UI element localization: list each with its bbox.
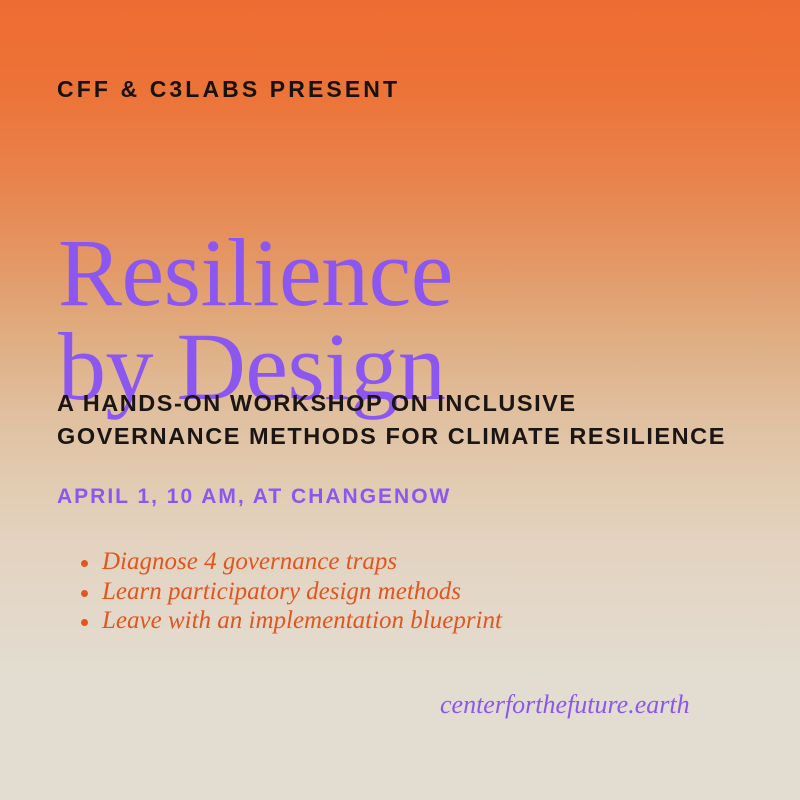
takeaways-list: Diagnose 4 governance traps Learn partic… xyxy=(78,547,502,636)
title-line-1: Resilience xyxy=(58,226,453,320)
presenter-eyebrow: CFF & C3LABS PRESENT xyxy=(57,76,400,103)
subtitle-line-2: GOVERNANCE METHODS FOR CLIMATE RESILIENC… xyxy=(57,420,726,453)
list-item: Diagnose 4 governance traps xyxy=(78,547,502,577)
footer-website-url: centerforthefuture.earth xyxy=(440,690,690,720)
subtitle-line-1: A HANDS-ON WORKSHOP ON INCLUSIVE xyxy=(57,387,726,420)
event-datetime-location: APRIL 1, 10 AM, AT CHANGENOW xyxy=(57,485,451,509)
list-item: Leave with an implementation blueprint xyxy=(78,606,502,636)
subtitle: A HANDS-ON WORKSHOP ON INCLUSIVE GOVERNA… xyxy=(57,387,726,454)
poster-canvas: CFF & C3LABS PRESENT Resilience by Desig… xyxy=(0,0,800,800)
list-item: Learn participatory design methods xyxy=(78,577,502,607)
